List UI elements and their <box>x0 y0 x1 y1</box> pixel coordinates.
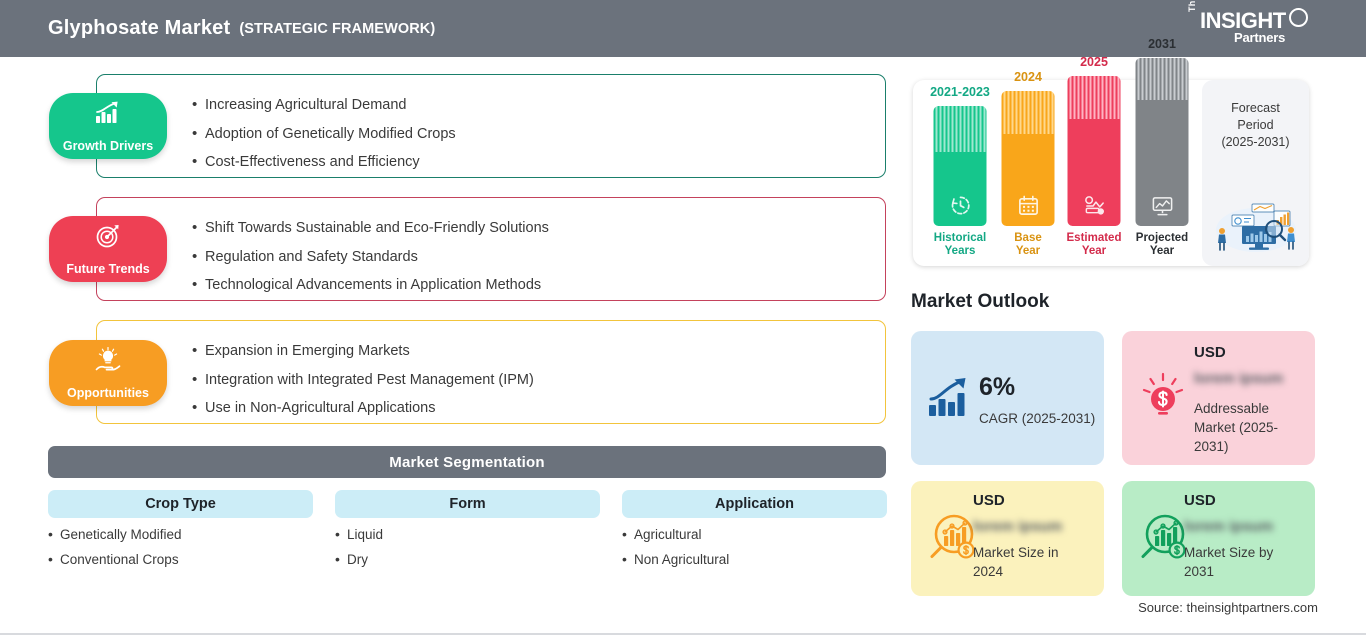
timeline-year-label: 2024 <box>1014 71 1042 84</box>
market-outlook-title: Market Outlook <box>911 291 1049 313</box>
blurred-value: lorem ipsum <box>1184 519 1273 534</box>
list-item: Non Agricultural <box>622 553 887 567</box>
calendar-icon <box>1016 194 1041 217</box>
source-text: Source: theinsightpartners.com <box>1138 600 1318 615</box>
insight-partners-logo: The INSIGHT Partners <box>1188 9 1308 49</box>
person-right <box>1287 227 1295 249</box>
pill-growth-drivers[interactable]: Growth Drivers <box>49 93 167 159</box>
segmentation-title-text: Application <box>715 496 794 512</box>
caption-line-1: Historical <box>934 232 986 244</box>
analytics-team-illustration <box>1208 196 1304 254</box>
list-item: Agricultural <box>622 528 887 542</box>
presentation-chart-icon <box>1150 194 1175 217</box>
bar-stripe-top <box>1068 76 1121 119</box>
growth-drivers-bullets: Increasing Agricultural Demand Adoption … <box>192 98 456 184</box>
card-label: Addressable Market (2025-2031) <box>1194 399 1304 456</box>
timeline-bars: 2021-2023 Historical Years <box>913 80 1203 266</box>
bar-solid-body <box>1136 100 1189 226</box>
timeline-caption: Projected Year <box>1136 232 1188 258</box>
timeline-bar-shape <box>1068 76 1121 226</box>
market-segmentation-title: Market Segmentation <box>389 454 545 471</box>
clock-history-icon <box>948 194 973 217</box>
target-dart-icon <box>94 223 122 249</box>
timeline-year-label: 2021-2023 <box>930 86 990 99</box>
cagr-value: 6% <box>979 375 1015 400</box>
logo-circle-icon <box>1289 8 1308 27</box>
market-segmentation-header: Market Segmentation <box>48 446 886 478</box>
segmentation-list: Genetically Modified Conventional Crops <box>48 528 313 566</box>
page-subtitle: (STRATEGIC FRAMEWORK) <box>239 21 435 37</box>
timeline-bar-shape <box>1136 58 1189 226</box>
bar-solid-body <box>1002 134 1055 226</box>
bullet-item: Cost-Effectiveness and Efficiency <box>192 155 456 170</box>
cagr-label: CAGR (2025-2031) <box>979 410 1095 427</box>
forecast-line-1: Forecast <box>1231 101 1280 115</box>
logo-insight-text: INSIGHT <box>1200 10 1286 32</box>
timeline-bar-shape <box>1002 91 1055 226</box>
list-item: Conventional Crops <box>48 553 313 567</box>
logo-the-text: The <box>1188 0 1197 12</box>
list-item: Genetically Modified <box>48 528 313 542</box>
segmentation-list: Agricultural Non Agricultural <box>622 528 887 566</box>
pill-future-trends[interactable]: Future Trends <box>49 216 167 282</box>
caption-line-2: Year <box>1150 245 1174 257</box>
bar-solid-body <box>1068 119 1121 226</box>
magnifier-chart-dollar-icon <box>925 512 977 564</box>
forecast-period-panel: Forecast Period (2025-2031) <box>1202 80 1309 266</box>
caption-line-1: Base <box>1014 232 1042 244</box>
timeline-year-label: 2025 <box>1080 56 1108 69</box>
lightbulb-dollar-icon <box>1139 371 1187 419</box>
bullet-item: Technological Advancements in Applicatio… <box>192 278 549 293</box>
bar-solid-body <box>934 152 987 226</box>
bullet-item: Increasing Agricultural Demand <box>192 98 456 113</box>
magnifier-chart-dollar-icon <box>1136 512 1188 564</box>
pill-label: Future Trends <box>66 263 149 276</box>
infographic-page: Glyphosate Market (STRATEGIC FRAMEWORK) … <box>0 0 1366 635</box>
segmentation-column-form: Form Liquid Dry <box>335 490 600 577</box>
bar-stripe-top <box>1002 91 1055 134</box>
bullet-item: Use in Non-Agricultural Applications <box>192 401 534 416</box>
timeline-caption: Historical Years <box>934 232 986 258</box>
caption-line-2: Years <box>945 245 976 257</box>
segmentation-column-title: Application <box>622 490 887 518</box>
bullet-item: Expansion in Emerging Markets <box>192 344 534 359</box>
timeline-caption: Estimated Year <box>1067 232 1122 258</box>
bar-stripe-top <box>1136 58 1189 100</box>
bar-stripe-top <box>934 106 987 152</box>
bullet-item: Shift Towards Sustainable and Eco-Friend… <box>192 221 549 236</box>
caption-line-2: Year <box>1082 245 1106 257</box>
opportunities-bullets: Expansion in Emerging Markets Integratio… <box>192 344 534 430</box>
bar-chart-growth-icon <box>94 100 122 126</box>
pill-label: Opportunities <box>67 387 149 400</box>
hand-lightbulb-icon <box>94 347 122 373</box>
segmentation-title-text: Form <box>449 496 485 512</box>
segmentation-column-crop-type: Crop Type Genetically Modified Conventio… <box>48 490 313 577</box>
blurred-value: lorem ipsum <box>1194 371 1283 386</box>
page-title: Glyphosate Market <box>48 17 230 40</box>
card-label: Market Size by 2031 <box>1184 543 1302 581</box>
forecast-period-text: Forecast Period (2025-2031) <box>1202 100 1309 151</box>
card-label: Market Size in 2024 <box>973 543 1091 581</box>
caption-line-1: Projected <box>1136 232 1188 244</box>
bullet-item: Integration with Integrated Pest Managem… <box>192 373 534 388</box>
future-trends-bullets: Shift Towards Sustainable and Eco-Friend… <box>192 221 549 307</box>
forecast-chart-icon <box>1082 194 1107 217</box>
caption-line-2: Year <box>1016 245 1040 257</box>
forecast-line-3: (2025-2031) <box>1221 135 1289 149</box>
card-addressable-market[interactable]: USD lorem ipsum Addressable Market (2025… <box>1122 331 1315 465</box>
list-item: Dry <box>335 553 600 567</box>
timeline-caption: Base Year <box>1014 232 1042 258</box>
bullet-item: Adoption of Genetically Modified Crops <box>192 127 456 142</box>
segmentation-list: Liquid Dry <box>335 528 600 566</box>
logo-partners-text: Partners <box>1234 31 1285 44</box>
segmentation-title-text: Crop Type <box>145 496 216 512</box>
currency-label: USD <box>1194 345 1226 360</box>
card-cagr[interactable]: 6% CAGR (2025-2031) <box>911 331 1104 465</box>
blurred-value: lorem ipsum <box>973 519 1062 534</box>
timeline-panel: 2021-2023 Historical Years <box>913 80 1309 266</box>
pill-opportunities[interactable]: Opportunities <box>49 340 167 406</box>
currency-label: USD <box>1184 493 1216 508</box>
bullet-item: Regulation and Safety Standards <box>192 250 549 265</box>
bar-chart-arrow-up-icon <box>927 377 972 419</box>
card-market-size-2031[interactable]: USD lorem ipsum Market Size by 2031 <box>1122 481 1315 596</box>
segmentation-column-title: Form <box>335 490 600 518</box>
caption-line-1: Estimated <box>1067 232 1122 244</box>
segmentation-column-title: Crop Type <box>48 490 313 518</box>
timeline-bar-shape <box>934 106 987 226</box>
list-item: Liquid <box>335 528 600 542</box>
card-market-size-2024[interactable]: USD lorem ipsum Market Size in 2024 <box>911 481 1104 596</box>
pill-label: Growth Drivers <box>63 140 153 153</box>
timeline-year-label: 2031 <box>1148 38 1176 51</box>
person-left <box>1218 228 1226 250</box>
currency-label: USD <box>973 493 1005 508</box>
segmentation-column-application: Application Agricultural Non Agricultura… <box>622 490 887 577</box>
forecast-line-2: Period <box>1237 118 1273 132</box>
